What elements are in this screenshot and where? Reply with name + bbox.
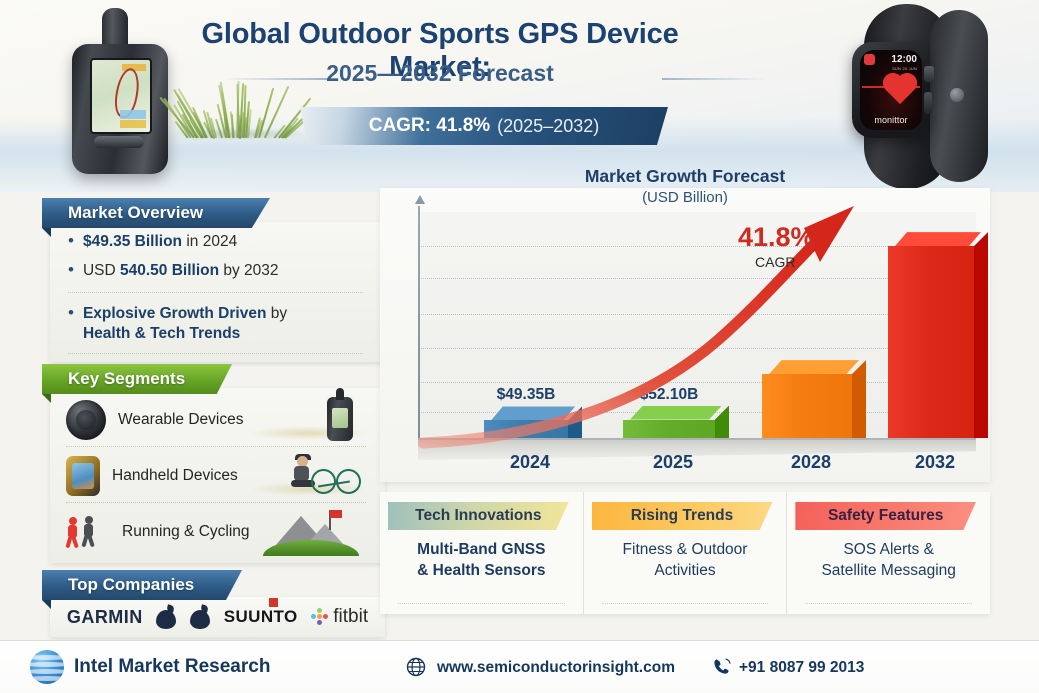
feature-card-rising-trends[interactable]: Rising Trends Fitness & Outdoor Activiti… [584, 492, 788, 614]
chart-plot-area: $49.35B2024$52.10B202520282032 [418, 212, 976, 440]
round-watch-icon [66, 400, 106, 440]
panel-top-companies: GARMIN SUUNTO fitbit [50, 597, 385, 637]
segment-label: Wearable Devices [118, 411, 244, 429]
feature-body: Fitness & Outdoor Activities [590, 540, 781, 582]
overview-bullet-0-strong: $49.35 Billion [83, 233, 182, 250]
segment-item-running-cycling[interactable]: Running & Cycling [66, 506, 371, 558]
apple-logo-icon [190, 605, 210, 629]
overview-bullet-2-strong: Explosive Growth Driven [83, 305, 266, 322]
overview-bullet-0-rest: in 2024 [182, 233, 237, 250]
mountain-flag-photo [249, 508, 367, 556]
cagr-period: (2025–2032) [497, 116, 599, 137]
segment-label: Running & Cycling [122, 523, 250, 541]
feature-line-1: SOS Alerts & [843, 541, 933, 558]
page-subtitle: 2025—2032 Forecast [180, 60, 700, 87]
panel-header-market-overview: Market Overview [42, 198, 270, 228]
list-item: • Explosive Growth Driven byHealth & Tec… [68, 304, 368, 344]
chart-title: Market Growth Forecast [380, 166, 990, 187]
summit-flag-icon [329, 510, 331, 530]
segments-header-fold [42, 394, 51, 403]
segment-label: Handheld Devices [112, 467, 238, 485]
segment-item-wearable-devices[interactable]: Wearable Devices [66, 394, 371, 446]
x-axis-label-2024: 2024 [470, 452, 590, 473]
feature-divider [602, 603, 769, 604]
overview-bullet-1-rest: by 2032 [219, 262, 278, 279]
bar-2028 [762, 374, 852, 438]
heart-icon [886, 76, 914, 104]
fitbit-logo-icon: fitbit [311, 606, 368, 628]
feature-line-1: Multi-Band GNSS [417, 541, 545, 558]
overview-bullet-1-lead: USD [83, 262, 120, 279]
panel-header-key-segments: Key Segments [42, 364, 232, 394]
overview-bullet-2-line2: Health & Tech Trends [83, 325, 240, 342]
overview-header-fold [42, 228, 51, 237]
feature-divider [805, 603, 972, 604]
bar-2032 [888, 246, 974, 438]
bar-value-label-2024: $49.35B [466, 386, 586, 404]
chart-subtitle: (USD Billion) [380, 189, 990, 206]
segment-divider [66, 502, 366, 503]
fitbit-label: fitbit [333, 606, 368, 628]
overview-bullet-list: • $49.35 Billion in 2024 • USD 540.50 Bi… [68, 232, 368, 290]
x-axis-label-2032: 2032 [875, 452, 995, 473]
suunto-label: SUUNTO [224, 607, 298, 626]
x-axis-label-2025: 2025 [613, 452, 733, 473]
overview-bullet-2-rest: by [266, 305, 287, 322]
footer-bar: Intel Market Research www.semiconductori… [0, 640, 1039, 693]
footer-brand: Intel Market Research [74, 656, 270, 678]
company-logo-row: GARMIN SUUNTO fitbit [50, 597, 385, 637]
bullet-dot: • [68, 232, 74, 252]
feature-title: Tech Innovations [388, 502, 569, 530]
watch-date: SUN 20 JUN [892, 66, 917, 71]
cagr-value: CAGR: 41.8% [369, 115, 490, 137]
heartbeat-badge-icon [864, 54, 875, 65]
bar-value-label-2025: $52.10B [609, 386, 729, 404]
fitbit-dots-icon [311, 608, 329, 626]
feature-body: Multi-Band GNSS & Health Sensors [386, 540, 577, 582]
smartwatch-device-icon: 12:00 SUN 20 JUN monittor [818, 4, 993, 189]
feature-body: SOS Alerts & Satellite Messaging [793, 540, 984, 582]
segment-divider [66, 446, 366, 447]
overview-bullet-list-2: • Explosive Growth Driven byHealth & Tec… [68, 304, 368, 353]
feature-divider [398, 603, 565, 604]
bullet-dot: • [68, 261, 74, 281]
globe-icon [406, 657, 426, 677]
panel-market-overview: • $49.35 Billion in 2024 • USD 540.50 Bi… [50, 222, 385, 362]
overview-divider-2 [68, 353, 363, 354]
bullet-dot: • [68, 304, 74, 344]
bar-2024 [484, 420, 568, 438]
segment-item-handheld-devices[interactable]: Handheld Devices [66, 450, 371, 502]
grass-shadow [172, 128, 308, 140]
handheld-gps-photo [249, 396, 367, 444]
phone-icon [712, 657, 732, 677]
footer-website[interactable]: www.semiconductorinsight.com [437, 659, 675, 677]
header-banner: 12:00 SUN 20 JUN monittor Global Outdoor… [0, 0, 1039, 192]
globe-stripes-logo-icon [30, 650, 64, 684]
feature-line-2: Satellite Messaging [821, 562, 955, 579]
cagr-annotation-value: 41.8% [738, 222, 815, 253]
feature-cards: Tech Innovations Multi-Band GNSS & Healt… [380, 492, 990, 614]
feature-title: Safety Features [795, 502, 976, 530]
square-smartwatch-icon [66, 456, 100, 496]
gps-handheld-device-icon [68, 8, 178, 176]
cagr-banner: CAGR: 41.8% (2025–2032) [300, 107, 668, 145]
feature-line-2: Activities [654, 562, 715, 579]
panel-header-top-companies: Top Companies [42, 570, 242, 600]
feature-line-2: & Health Sensors [417, 562, 545, 579]
feature-card-safety-features[interactable]: Safety Features SOS Alerts & Satellite M… [787, 492, 990, 614]
list-item: • USD 540.50 Billion by 2032 [68, 261, 368, 281]
suunto-wordmark-icon: SUUNTO [224, 607, 298, 627]
overview-divider [68, 292, 363, 293]
feature-title: Rising Trends [592, 502, 773, 530]
feature-card-tech-innovations[interactable]: Tech Innovations Multi-Band GNSS & Healt… [380, 492, 584, 614]
infographic-root: 12:00 SUN 20 JUN monittor Global Outdoor… [0, 0, 1039, 692]
y-axis [418, 206, 420, 440]
garmin-wordmark-icon: GARMIN [67, 607, 143, 628]
watch-time: 12:00 [891, 55, 917, 65]
cagr-annotation-label: CAGR [755, 254, 795, 270]
x-axis [418, 438, 976, 440]
list-item: • $49.35 Billion in 2024 [68, 232, 368, 252]
watch-brand-label: monittor [860, 115, 922, 125]
footer-phone[interactable]: +91 8087 99 2013 [739, 659, 864, 677]
panel-key-segments: Wearable Devices Handheld Devices Runnin… [50, 388, 385, 563]
runners-icon [66, 512, 110, 552]
feature-line-1: Fitness & Outdoor [623, 541, 748, 558]
cyclist-photo [249, 452, 367, 500]
bar-2025 [623, 420, 715, 438]
overview-bullet-1-strong: 540.50 Billion [120, 262, 219, 279]
apple-logo-icon [156, 605, 176, 629]
x-axis-label-2028: 2028 [751, 452, 871, 473]
